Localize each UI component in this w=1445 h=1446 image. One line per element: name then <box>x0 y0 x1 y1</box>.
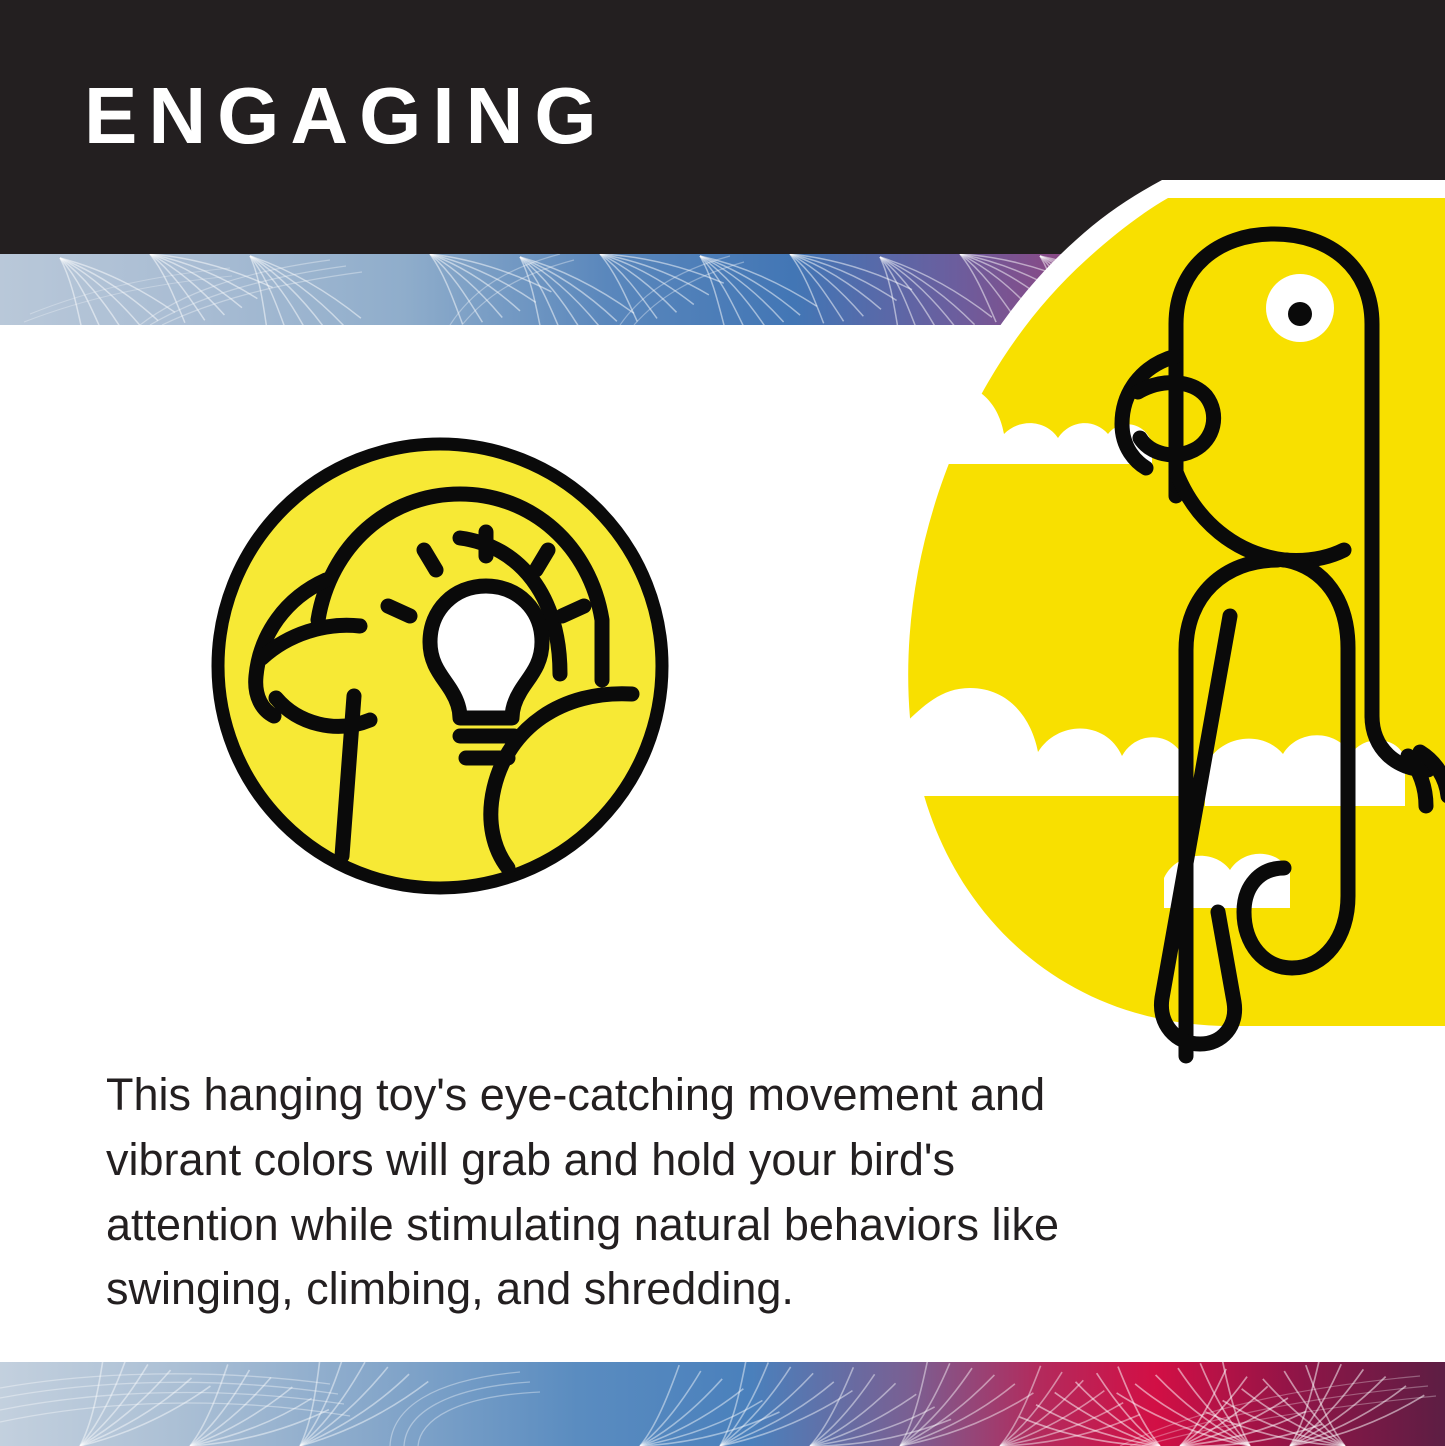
feather-band-bottom <box>0 1362 1445 1446</box>
badge-ray-upper-right <box>536 550 548 570</box>
parrot-eye-pupil <box>1288 302 1312 326</box>
badge-graphic <box>202 428 678 904</box>
parrot-illustration <box>900 196 1445 1056</box>
parrot-illustration-graphic <box>900 196 1445 1056</box>
badge-ray-upper-left <box>424 550 436 570</box>
marketing-feature-card: ENGAGING <box>0 0 1445 1446</box>
feather-band-bottom-graphic <box>0 1362 1445 1446</box>
badge-ray-right <box>562 606 584 616</box>
yellow-blob <box>888 180 1445 1044</box>
badge-ray-left <box>388 606 410 616</box>
parrot-eye <box>1266 274 1334 342</box>
feature-description: This hanging toy's eye-catching movement… <box>106 1063 1066 1322</box>
page-title: ENGAGING <box>84 76 608 156</box>
engaging-idea-badge <box>202 428 678 904</box>
